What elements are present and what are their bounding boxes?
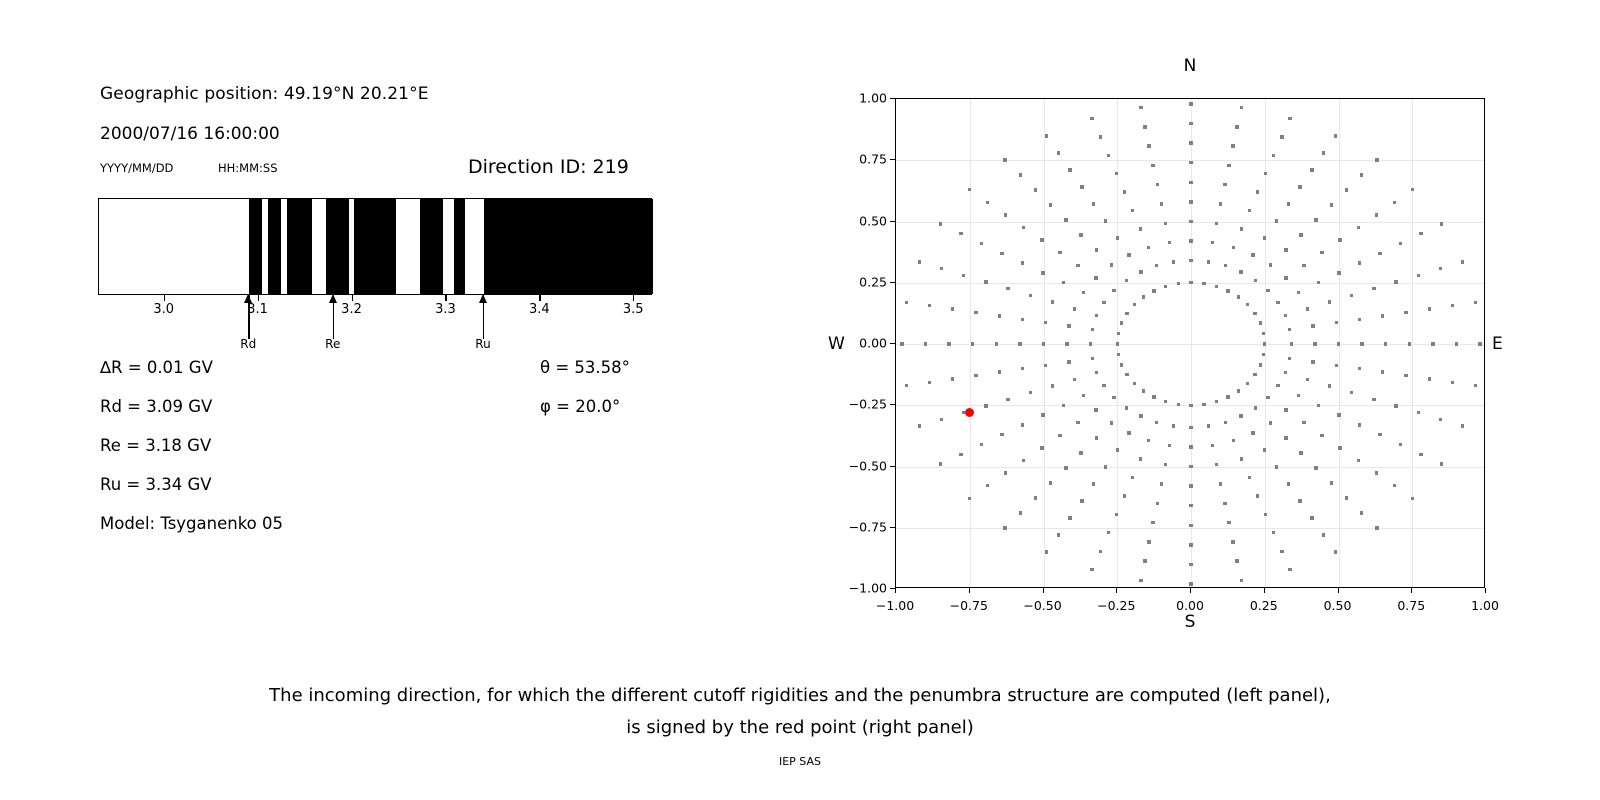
direction-dot — [1065, 342, 1068, 345]
direction-dot — [1073, 378, 1076, 381]
rigidity-tick-mark — [633, 295, 634, 301]
rigidity-axis: 3.03.13.23.33.43.5RdReRu — [98, 295, 652, 355]
penumbra-plot-area — [98, 198, 652, 295]
direction-dot — [1215, 285, 1218, 288]
y-axis-tick-mark — [890, 343, 895, 344]
direction-dot — [1042, 342, 1045, 345]
direction-dot — [1280, 550, 1283, 553]
direction-dot — [1288, 568, 1291, 571]
direction-dot — [1227, 164, 1230, 167]
direction-dot — [1224, 421, 1227, 424]
direction-dot — [1110, 421, 1113, 424]
direction-dot — [1000, 252, 1003, 255]
direction-dot — [1147, 246, 1150, 249]
direction-dot — [1151, 521, 1154, 524]
direction-dot — [905, 301, 908, 304]
direction-dot — [1313, 342, 1316, 345]
direction-dot — [1439, 418, 1442, 421]
direction-dot — [1062, 281, 1065, 284]
direction-dot — [1237, 389, 1240, 392]
direction-dot — [1127, 253, 1130, 256]
datetime-text: 2000/07/16 16:00:00 — [100, 124, 280, 144]
direction-dot — [1090, 568, 1093, 571]
direction-dot — [1431, 342, 1434, 345]
direction-dot — [974, 374, 977, 377]
direction-dot — [1337, 271, 1340, 274]
direction-dot — [1226, 289, 1229, 292]
direction-dot — [1021, 367, 1024, 370]
direction-dot — [1164, 285, 1167, 288]
direction-dot — [1006, 398, 1009, 401]
direction-dot — [1314, 466, 1317, 469]
direction-dot — [1338, 446, 1341, 449]
compass-label-south: S — [1185, 612, 1196, 632]
direction-dot — [1110, 263, 1113, 266]
direction-dot — [1226, 395, 1229, 398]
direction-dot — [1189, 259, 1192, 262]
parameter-text: Ru = 3.34 GV — [100, 475, 212, 494]
direction-dot — [1095, 436, 1098, 439]
direction-dot — [1189, 524, 1192, 527]
direction-dot — [1022, 226, 1025, 229]
direction-dot — [1328, 384, 1331, 387]
direction-dot — [1116, 236, 1119, 239]
cutoff-marker-label: Rd — [240, 337, 256, 351]
direction-dot — [1284, 408, 1287, 411]
direction-dot — [1211, 444, 1214, 447]
direction-dot — [1064, 218, 1067, 221]
direction-dot — [980, 443, 983, 446]
x-axis-tick-mark — [1043, 588, 1044, 593]
direction-dot — [1311, 324, 1314, 327]
direction-dot — [1139, 579, 1142, 582]
direction-dot — [1259, 321, 1262, 324]
direction-dot — [1062, 404, 1065, 407]
y-axis-tick-mark — [890, 221, 895, 222]
x-axis-tick-label: −0.75 — [950, 598, 988, 613]
direction-dot — [1058, 434, 1061, 437]
direction-dot — [1254, 279, 1257, 282]
direction-dot — [1051, 300, 1054, 303]
direction-dot — [1461, 260, 1464, 263]
rigidity-tick-label: 3.4 — [529, 302, 550, 317]
direction-dot — [1287, 482, 1290, 485]
direction-dot — [1091, 328, 1094, 331]
direction-dot — [1115, 513, 1118, 516]
direction-dot — [1004, 213, 1007, 216]
direction-dot — [1079, 451, 1082, 454]
direction-dot — [1189, 484, 1192, 487]
rigidity-tick-mark — [352, 295, 353, 301]
direction-dot — [1067, 360, 1070, 363]
direction-dot — [1240, 106, 1243, 109]
direction-dot — [1202, 282, 1205, 285]
direction-dot — [1123, 494, 1126, 497]
penumbra-forbidden-band — [420, 199, 443, 294]
direction-dot — [1253, 312, 1256, 315]
direction-dot — [1310, 168, 1313, 171]
direction-dot — [1404, 374, 1407, 377]
direction-dot — [1021, 318, 1024, 321]
rigidity-tick-label: 3.5 — [623, 302, 644, 317]
date-format-hint: YYYY/MM/DD — [100, 161, 173, 175]
direction-dot — [1322, 151, 1325, 154]
direction-dot — [1125, 373, 1128, 376]
x-axis-tick-mark — [1264, 588, 1265, 593]
direction-dot — [1131, 476, 1134, 479]
x-axis-tick-label: −0.50 — [1023, 598, 1061, 613]
direction-dot — [1306, 378, 1309, 381]
direction-dot — [1404, 311, 1407, 314]
right-panel: N S W E −1.00−0.75−0.50−0.250.000.250.50… — [820, 40, 1600, 660]
direction-dot — [1248, 209, 1251, 212]
direction-dot — [1189, 122, 1192, 125]
direction-dot — [1021, 261, 1024, 264]
direction-dot — [1297, 291, 1300, 294]
direction-dot — [1262, 332, 1265, 335]
direction-dot — [1073, 307, 1076, 310]
direction-dot — [947, 342, 950, 345]
direction-dot — [1375, 213, 1378, 216]
direction-dot — [1322, 533, 1325, 536]
direction-dot — [1117, 353, 1120, 356]
direction-dot — [1049, 203, 1052, 206]
penumbra-forbidden-band — [454, 199, 465, 294]
x-axis-tick-label: 1.00 — [1471, 598, 1499, 613]
direction-dot — [1334, 550, 1337, 553]
angle-parameter-text: φ = 20.0° — [540, 397, 620, 416]
direction-id-text: Direction ID: 219 — [468, 156, 629, 178]
penumbra-forbidden-band — [484, 199, 653, 294]
direction-dot — [1189, 426, 1192, 429]
geographic-position-text: Geographic position: 49.19°N 20.21°E — [100, 84, 429, 104]
x-axis-tick-mark — [1485, 588, 1486, 593]
direction-dot — [1350, 391, 1353, 394]
grid-line-vertical — [1191, 99, 1192, 587]
direction-dot — [1224, 264, 1227, 267]
direction-dot — [1189, 582, 1192, 585]
direction-dot — [1127, 431, 1130, 434]
direction-dot — [1082, 291, 1085, 294]
direction-dot — [1189, 200, 1192, 203]
direction-dot — [1142, 389, 1145, 392]
direction-dot — [1231, 144, 1234, 147]
direction-dot — [1120, 321, 1123, 324]
x-axis-tick-mark — [1190, 588, 1191, 593]
direction-dot — [1451, 381, 1454, 384]
left-panel: Geographic position: 49.19°N 20.21°E 200… — [0, 0, 760, 620]
direction-dot — [968, 188, 971, 191]
direction-dot — [1284, 314, 1287, 317]
y-axis-tick-mark — [890, 98, 895, 99]
direction-dot — [1094, 408, 1097, 411]
direction-dot — [1112, 396, 1115, 399]
direction-dot — [1223, 502, 1226, 505]
rigidity-tick-mark — [445, 295, 446, 301]
direction-dot — [1269, 263, 1272, 266]
direction-dot — [1248, 476, 1251, 479]
direction-dot — [1123, 190, 1126, 193]
direction-dot — [1095, 248, 1098, 251]
direction-dot — [1142, 295, 1145, 298]
direction-dot — [1057, 533, 1060, 536]
direction-dot — [1019, 173, 1022, 176]
direction-dot — [1041, 271, 1044, 274]
direction-dot — [1164, 222, 1167, 225]
caption-line-1: The incoming direction, for which the di… — [0, 680, 1600, 712]
x-axis-tick-label: 0.00 — [1176, 598, 1204, 613]
direction-dot — [1372, 398, 1375, 401]
direction-dot — [1298, 185, 1301, 188]
direction-dot — [1461, 424, 1464, 427]
direction-dot — [1358, 367, 1361, 370]
direction-dot — [1419, 232, 1422, 235]
y-axis-tick-label: −0.25 — [831, 397, 887, 412]
grid-line-horizontal — [896, 528, 1484, 529]
direction-dot — [1320, 251, 1323, 254]
x-axis-tick-mark — [895, 588, 896, 593]
direction-dot — [1116, 448, 1119, 451]
x-axis-tick-mark — [1411, 588, 1412, 593]
direction-dot — [1076, 421, 1079, 424]
direction-dot — [1232, 246, 1235, 249]
direction-dot — [1215, 463, 1218, 466]
rigidity-tick-mark — [258, 295, 259, 301]
direction-dot — [951, 377, 954, 380]
arrow-up-icon — [329, 294, 337, 303]
direction-dot — [1115, 172, 1118, 175]
direction-dot — [1099, 550, 1102, 553]
direction-dot — [1104, 465, 1107, 468]
direction-dot — [1428, 307, 1431, 310]
direction-dot — [1262, 353, 1265, 356]
direction-dot — [1375, 158, 1378, 161]
direction-dot — [1133, 382, 1136, 385]
direction-dot — [1240, 457, 1243, 460]
direction-dot — [1314, 218, 1317, 221]
direction-dot — [1280, 135, 1283, 138]
direction-dot — [1147, 439, 1150, 442]
direction-dot — [1189, 161, 1192, 164]
direction-dot — [1334, 134, 1337, 137]
direction-dot — [1064, 466, 1067, 469]
x-axis-tick-label: 0.50 — [1324, 598, 1352, 613]
direction-dot — [1288, 357, 1291, 360]
x-axis-tick-mark — [1116, 588, 1117, 593]
y-axis-tick-label: 0.25 — [831, 274, 887, 289]
direction-dot — [1189, 281, 1192, 284]
direction-dot — [1079, 233, 1082, 236]
direction-dot — [1478, 342, 1481, 345]
direction-dot — [1139, 414, 1142, 417]
direction-dot — [1160, 482, 1163, 485]
direction-dot — [1019, 511, 1022, 514]
x-axis-tick-label: 0.25 — [1250, 598, 1278, 613]
rigidity-tick-label: 3.2 — [341, 302, 362, 317]
direction-dot — [1172, 260, 1175, 263]
direction-dot — [1227, 521, 1230, 524]
direction-dot — [1207, 424, 1210, 427]
direction-dot — [1091, 357, 1094, 360]
direction-dot — [1337, 342, 1340, 345]
direction-dot — [1152, 395, 1155, 398]
direction-dot — [1345, 496, 1348, 499]
direction-dot — [1384, 342, 1387, 345]
rigidity-tick-mark — [164, 295, 165, 301]
direction-dot — [1246, 303, 1249, 306]
direction-dot — [1263, 448, 1266, 451]
direction-dot — [940, 267, 943, 270]
angle-parameter-text: θ = 53.58° — [540, 358, 630, 377]
direction-dot — [1378, 433, 1381, 436]
direction-dot — [1102, 384, 1105, 387]
direction-dot — [1335, 321, 1338, 324]
direction-dot — [1357, 226, 1360, 229]
direction-dot — [1029, 391, 1032, 394]
selected-direction-point[interactable] — [965, 408, 974, 417]
grid-line-horizontal — [896, 344, 1484, 345]
direction-dot — [1143, 559, 1146, 562]
direction-dot — [1092, 482, 1095, 485]
direction-dot — [939, 462, 942, 465]
direction-dot — [1104, 219, 1107, 222]
direction-dot — [1417, 274, 1420, 277]
direction-dot — [1378, 252, 1381, 255]
direction-dot — [1099, 135, 1102, 138]
direction-dot — [1399, 443, 1402, 446]
direction-dot — [1275, 219, 1278, 222]
direction-dot — [1330, 481, 1333, 484]
direction-dot — [1151, 164, 1154, 167]
direction-dot — [1298, 499, 1301, 502]
y-axis-tick-label: 1.00 — [831, 91, 887, 106]
figure-caption: The incoming direction, for which the di… — [0, 680, 1600, 744]
direction-dot — [1189, 445, 1192, 448]
direction-dot — [924, 342, 927, 345]
direction-dot — [1269, 421, 1272, 424]
direction-dot — [1330, 203, 1333, 206]
direction-dot — [1034, 188, 1037, 191]
x-axis-tick-mark — [1338, 588, 1339, 593]
direction-dot — [1299, 451, 1302, 454]
y-axis-tick-label: −0.50 — [831, 458, 887, 473]
direction-dot — [1419, 453, 1422, 456]
direction-dot — [1417, 411, 1420, 414]
direction-dot — [928, 381, 931, 384]
direction-dot — [1156, 183, 1159, 186]
direction-dot — [1320, 434, 1323, 437]
direction-dot — [1189, 102, 1192, 105]
direction-dot — [1202, 403, 1205, 406]
penumbra-forbidden-band — [354, 199, 395, 294]
direction-dot — [1095, 314, 1098, 317]
direction-dot — [959, 453, 962, 456]
direction-dot — [1041, 413, 1044, 416]
direction-dot — [1263, 342, 1266, 345]
direction-dot — [1095, 371, 1098, 374]
direction-dot — [1133, 303, 1136, 306]
direction-dot — [1276, 384, 1279, 387]
direction-dot — [1350, 294, 1353, 297]
y-axis-tick-label: 0.50 — [831, 213, 887, 228]
direction-dot — [1189, 141, 1192, 144]
direction-dot — [1297, 394, 1300, 397]
direction-dot — [1337, 413, 1340, 416]
direction-dot — [1360, 511, 1363, 514]
direction-dot — [1139, 106, 1142, 109]
y-axis-tick-mark — [890, 404, 895, 405]
direction-dot — [1393, 484, 1396, 487]
direction-dot — [1172, 424, 1175, 427]
direction-dot — [1058, 251, 1061, 254]
direction-dot — [1246, 382, 1249, 385]
parameter-text: ∆R = 0.01 GV — [100, 358, 213, 377]
y-axis-tick-mark — [890, 282, 895, 283]
penumbra-forbidden-band — [287, 199, 312, 294]
direction-dot — [1040, 446, 1043, 449]
x-axis-tick-mark — [969, 588, 970, 593]
cutoff-marker-label: Re — [325, 337, 340, 351]
direction-dot — [1117, 332, 1120, 335]
direction-dot — [1338, 238, 1341, 241]
direction-dot — [1057, 151, 1060, 154]
direction-dot — [1090, 117, 1093, 120]
direction-dot — [1302, 264, 1305, 267]
direction-dot — [1094, 276, 1097, 279]
parameter-text: Model: Tsyganenko 05 — [100, 514, 283, 533]
direction-dot — [1266, 289, 1269, 292]
direction-dot — [1215, 400, 1218, 403]
direction-dot — [1168, 444, 1171, 447]
compass-label-north: N — [1184, 56, 1197, 76]
direction-dot — [1440, 462, 1443, 465]
direction-dot — [986, 484, 989, 487]
y-axis-tick-mark — [890, 159, 895, 160]
direction-dot — [1219, 482, 1222, 485]
y-axis-tick-label: −1.00 — [831, 581, 887, 596]
direction-dot — [1259, 363, 1262, 366]
direction-dot — [1155, 264, 1158, 267]
direction-dot — [1092, 202, 1095, 205]
direction-dot — [1107, 531, 1110, 534]
direction-dot — [1474, 384, 1477, 387]
direction-dot — [1399, 242, 1402, 245]
direction-dot — [1253, 373, 1256, 376]
direction-dot — [1381, 314, 1384, 317]
direction-dot — [1107, 154, 1110, 157]
direction-dot — [1394, 280, 1397, 283]
direction-dot — [1335, 364, 1338, 367]
caption-line-2: is signed by the red point (right panel) — [0, 712, 1600, 744]
direction-dot — [984, 280, 987, 283]
x-axis-tick-label: −0.25 — [1097, 598, 1135, 613]
direction-dot — [1189, 404, 1192, 407]
y-axis-tick-label: 0.00 — [831, 336, 887, 351]
direction-dot — [984, 404, 987, 407]
arrow-up-icon — [479, 294, 487, 303]
direction-dot — [1408, 342, 1411, 345]
direction-dot — [1411, 188, 1414, 191]
footer-credit: IEP SAS — [0, 755, 1600, 768]
direction-dot — [1284, 248, 1287, 251]
direction-dot — [1317, 281, 1320, 284]
direction-dot — [968, 497, 971, 500]
direction-dot — [1290, 342, 1293, 345]
rigidity-tick-mark — [539, 295, 540, 301]
direction-dot — [951, 307, 954, 310]
direction-dot — [1160, 202, 1163, 205]
direction-dot — [1239, 270, 1242, 273]
